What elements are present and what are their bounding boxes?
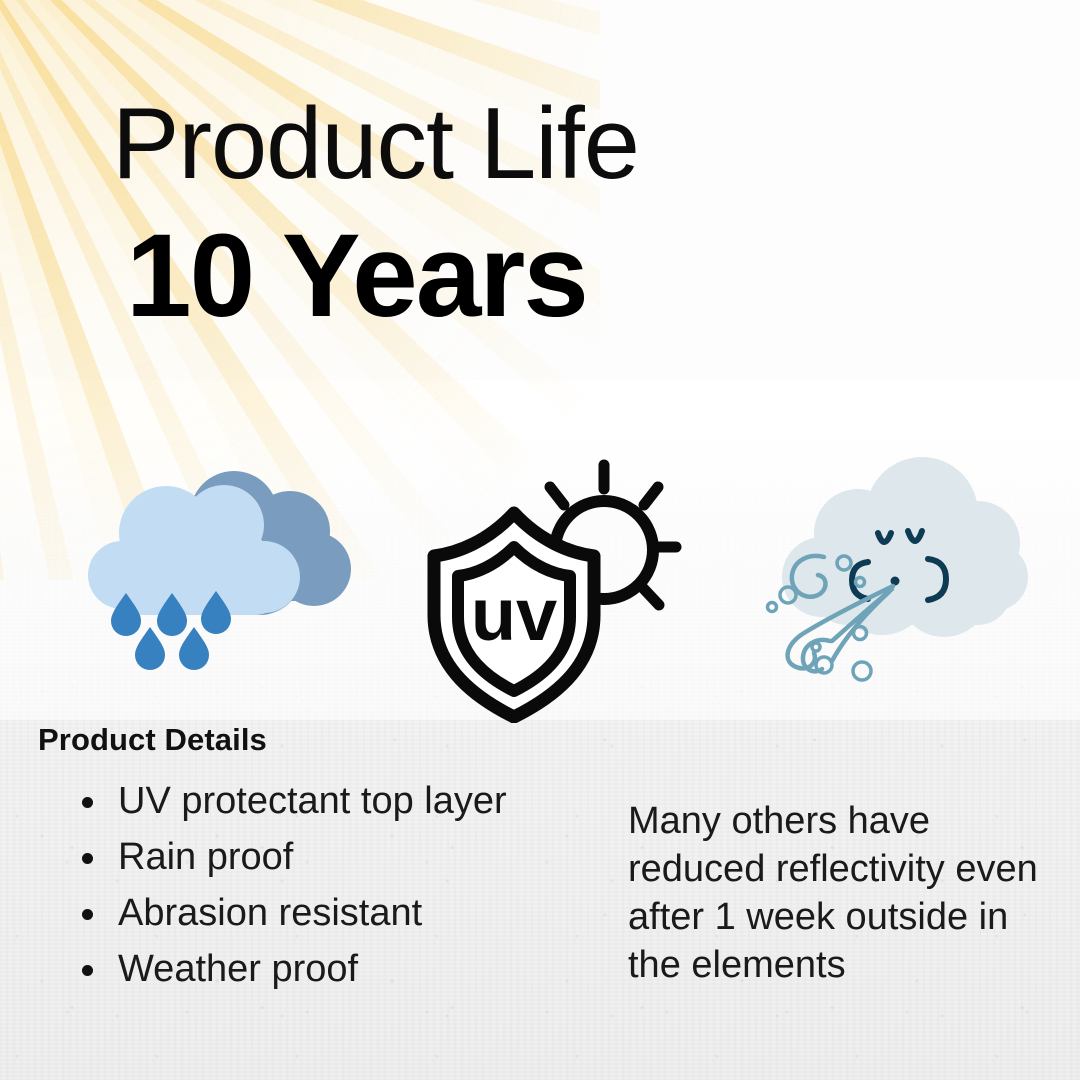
uv-label: uv — [471, 573, 557, 656]
comparison-note-text: Many others have reduced reflectivity ev… — [628, 798, 1058, 990]
wind-cloud-icon — [752, 455, 1044, 695]
bullet-icon — [82, 853, 93, 864]
list-item: Abrasion resistant — [76, 890, 558, 938]
product-details-block: Product Details UV protectant top layer … — [38, 722, 558, 1002]
rain-cloud-svg — [74, 465, 364, 680]
list-item: Rain proof — [76, 834, 558, 882]
uv-shield-sun-svg: uv — [418, 455, 700, 723]
comparison-note: Many others have reduced reflectivity ev… — [628, 798, 1058, 990]
wind-cloud-svg — [752, 455, 1044, 695]
product-details-list: UV protectant top layer Rain proof Abras… — [38, 778, 558, 994]
list-item: Weather proof — [76, 946, 558, 994]
page-title: Product Life — [112, 94, 972, 195]
bullet-icon — [82, 965, 93, 976]
list-item: UV protectant top layer — [76, 778, 558, 826]
bullet-icon — [82, 909, 93, 920]
cloud-body-shape — [782, 457, 1028, 637]
headline-block: Product Life 10 Years — [112, 94, 972, 335]
list-item-label: UV protectant top layer — [118, 780, 507, 822]
uv-shield-sun-icon: uv — [418, 455, 700, 723]
list-item-label: Abrasion resistant — [118, 892, 422, 934]
bullet-icon — [82, 797, 93, 808]
product-life-poster: Product Life 10 Years — [0, 0, 1080, 1080]
feature-icon-row: uv — [0, 455, 1080, 720]
list-item-label: Rain proof — [118, 836, 293, 878]
list-item-label: Weather proof — [118, 948, 358, 990]
product-details-heading: Product Details — [38, 722, 558, 758]
raindrops-group — [111, 591, 231, 670]
page-subtitle-years: 10 Years — [126, 217, 972, 335]
rain-cloud-icon — [74, 465, 364, 680]
